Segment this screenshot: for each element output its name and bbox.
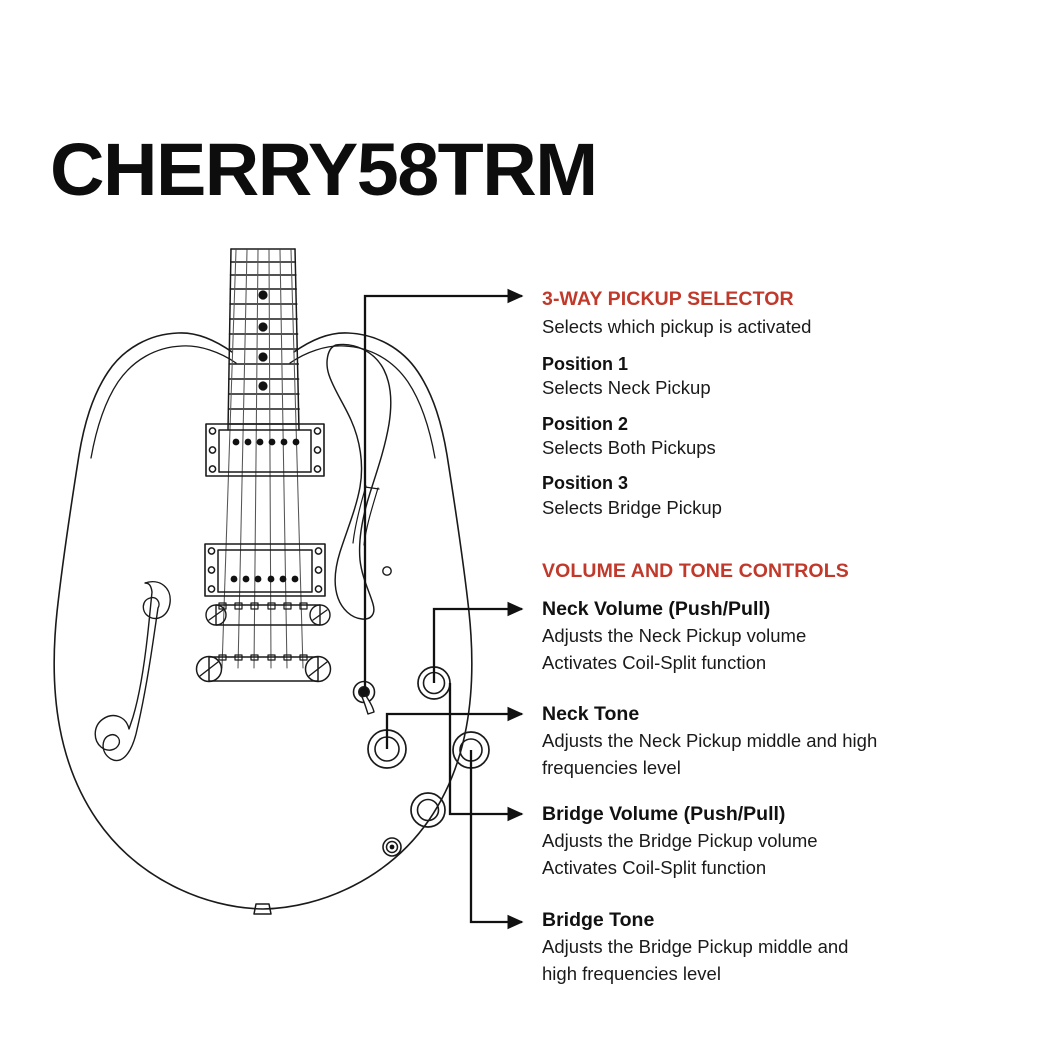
pickguard [327,344,391,619]
tailpiece [197,655,331,682]
callout-desc-line-1: Adjusts the Bridge Pickup middle and [542,934,848,960]
callout-desc-line-1: Adjusts the Bridge Pickup volume [542,828,818,854]
callout-neck-volume: Neck Volume (Push/Pull) Adjusts the Neck… [542,598,806,676]
fret-inlay-dot [258,352,267,361]
callout-desc: Selects which pickup is activated [542,314,811,340]
fretboard [228,249,299,430]
bridge-pickup [205,544,325,596]
fret-inlay-dot [258,322,267,331]
position-2-desc: Selects Both Pickups [542,435,811,461]
bridge [206,603,330,625]
leader-pickup-selector [365,296,522,692]
guitar-illustration [0,0,1050,1050]
leader-bridge-tone [471,750,522,922]
callout-pickup-selector: 3-WAY PICKUP SELECTOR Selects which pick… [542,288,811,521]
callout-heading: Bridge Volume (Push/Pull) [542,803,818,825]
callout-heading: Neck Tone [542,703,877,725]
callout-desc-line-2: Activates Coil-Split function [542,855,818,881]
callout-heading: Neck Volume (Push/Pull) [542,598,806,620]
leader-lines [365,296,522,922]
fret-inlay-dot [258,290,267,299]
guitar-body-outline [54,333,472,909]
position-3-label: Position 3 [542,473,811,495]
f-hole [95,582,170,761]
callout-heading: Bridge Tone [542,909,848,931]
position-1-label: Position 1 [542,354,811,376]
callout-desc-line-1: Adjusts the Neck Pickup middle and high [542,728,877,754]
position-2-label: Position 2 [542,414,811,436]
callout-desc-line-1: Adjusts the Neck Pickup volume [542,623,806,649]
callout-bridge-tone: Bridge Tone Adjusts the Bridge Pickup mi… [542,909,848,987]
output-jack [383,838,401,856]
diagram-page: CHERRY58TRM [0,0,1050,1050]
callout-desc-line-2: high frequencies level [542,961,848,987]
callout-bridge-volume: Bridge Volume (Push/Pull) Adjusts the Br… [542,803,818,881]
callout-heading: 3-WAY PICKUP SELECTOR [542,288,811,310]
pickguard-screw [383,567,391,575]
callout-volume-tone-section: VOLUME AND TONE CONTROLS [542,560,849,582]
pole-pieces [231,576,299,583]
section-heading: VOLUME AND TONE CONTROLS [542,560,849,582]
neck-pickup [206,424,324,476]
position-1-desc: Selects Neck Pickup [542,375,811,401]
position-3-desc: Selects Bridge Pickup [542,495,811,521]
callout-desc-line-2: Activates Coil-Split function [542,650,806,676]
leader-neck-volume [434,609,522,683]
fret-inlay-dot [258,381,267,390]
callout-neck-tone: Neck Tone Adjusts the Neck Pickup middle… [542,703,877,781]
callout-desc-line-2: frequencies level [542,755,877,781]
